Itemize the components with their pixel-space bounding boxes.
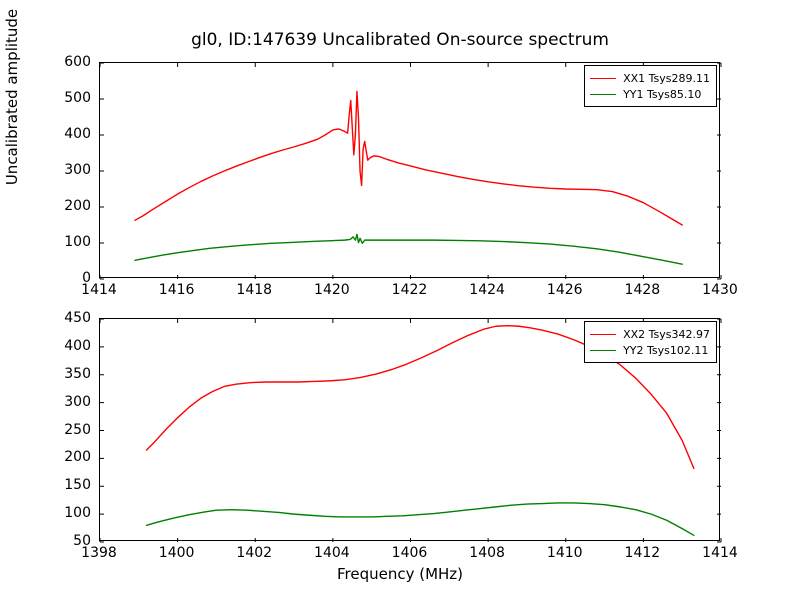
legend-color-swatch — [590, 78, 616, 79]
x-tick-label: 1406 — [392, 545, 428, 561]
x-tick-label: 1420 — [314, 282, 350, 298]
y-tick-label: 200 — [39, 198, 91, 214]
x-tick-label: 1414 — [702, 545, 738, 561]
y-tick-label: 400 — [39, 338, 91, 354]
x-tick-label: 1422 — [392, 282, 428, 298]
y-tick-label: 400 — [39, 126, 91, 142]
legend-entry[interactable]: YY2 Tsys102.11 — [590, 342, 710, 358]
axes-bottom-panel[interactable]: XX2 Tsys342.97YY2 Tsys102.11 — [99, 318, 720, 541]
y-tick-label: 200 — [39, 449, 91, 465]
y-tick-label: 500 — [39, 90, 91, 106]
x-tick-label: 1412 — [625, 545, 661, 561]
x-axis-label: Frequency (MHz) — [0, 565, 800, 583]
y-tick-label: 300 — [39, 394, 91, 410]
figure-title: gl0, ID:147639 Uncalibrated On-source sp… — [0, 30, 800, 50]
legend-label: XX2 Tsys342.97 — [623, 328, 710, 341]
y-tick-label: 450 — [39, 310, 91, 326]
legend-entry[interactable]: XX1 Tsys289.11 — [590, 70, 710, 86]
y-tick-label: 150 — [39, 477, 91, 493]
y-tick-label: 0 — [39, 270, 91, 286]
legend-label: YY2 Tsys102.11 — [623, 344, 708, 357]
y-tick-label: 300 — [39, 162, 91, 178]
legend-color-swatch — [590, 334, 616, 335]
y-tick-label: 100 — [39, 234, 91, 250]
legend-label: YY1 Tsys85.10 — [623, 88, 701, 101]
legend-entry[interactable]: YY1 Tsys85.10 — [590, 86, 710, 102]
x-tick-label: 1400 — [159, 545, 195, 561]
y-tick-label: 50 — [39, 533, 91, 549]
legend-color-swatch — [590, 94, 616, 95]
legend-label: XX1 Tsys289.11 — [623, 72, 710, 85]
x-tick-label: 1424 — [469, 282, 505, 298]
axes-top-panel[interactable]: XX1 Tsys289.11YY1 Tsys85.10 — [99, 62, 720, 278]
x-tick-label: 1410 — [547, 545, 583, 561]
x-tick-label: 1418 — [236, 282, 272, 298]
x-tick-label: 1404 — [314, 545, 350, 561]
x-tick-label: 1408 — [469, 545, 505, 561]
y-tick-label: 250 — [39, 422, 91, 438]
y-tick-label: 600 — [39, 54, 91, 70]
x-tick-label: 1402 — [236, 545, 272, 561]
x-tick-label: 1426 — [547, 282, 583, 298]
y-tick-label: 100 — [39, 505, 91, 521]
x-tick-label: 1430 — [702, 282, 738, 298]
y-tick-label: 350 — [39, 366, 91, 382]
legend-color-swatch — [590, 350, 616, 351]
figure-canvas: gl0, ID:147639 Uncalibrated On-source sp… — [0, 0, 800, 600]
legend-top[interactable]: XX1 Tsys289.11YY1 Tsys85.10 — [584, 65, 717, 107]
legend-bottom[interactable]: XX2 Tsys342.97YY2 Tsys102.11 — [584, 321, 717, 363]
x-tick-label: 1416 — [159, 282, 195, 298]
legend-entry[interactable]: XX2 Tsys342.97 — [590, 326, 710, 342]
x-tick-label: 1428 — [625, 282, 661, 298]
y-axis-label: Uncalibrated amplitude — [3, 0, 21, 277]
